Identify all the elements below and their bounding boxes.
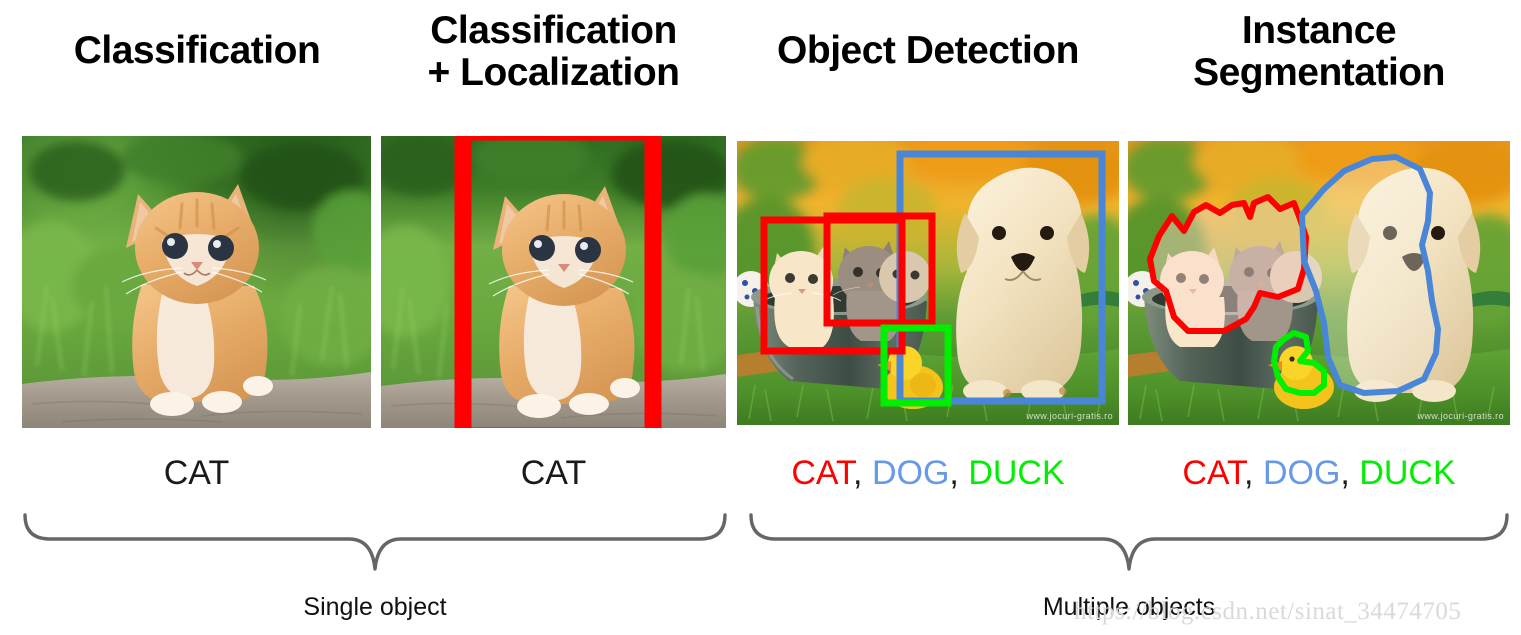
brace-multiple-objects	[748, 512, 1510, 574]
kitten-photo	[22, 136, 371, 428]
caption-classification-localization: CAT	[381, 456, 726, 490]
label-separator: ,	[1340, 454, 1359, 492]
label-cat: CAT	[791, 454, 853, 492]
label-cat: CAT	[164, 454, 229, 492]
label-duck: DUCK	[968, 454, 1064, 492]
segmentation-mask-cat	[1150, 197, 1306, 331]
label-separator: ,	[949, 454, 968, 492]
segmentation-masks	[1128, 141, 1510, 425]
column-title-object-detection: Object Detection	[737, 30, 1119, 72]
bounding-box-cat-2	[827, 216, 932, 323]
label-duck: DUCK	[1359, 454, 1455, 492]
label-dog: DOG	[1263, 454, 1340, 492]
label-cat: CAT	[1182, 454, 1244, 492]
column-title-classification-localization: Classification + Localization	[381, 10, 726, 94]
segmentation-mask-duck	[1274, 333, 1324, 393]
photo-panel-classification-localization	[381, 136, 726, 428]
segmentation-mask-dog	[1302, 157, 1438, 393]
bounding-box-duck	[884, 328, 948, 403]
label-separator: ,	[1244, 454, 1263, 492]
bounding-box-cat	[381, 136, 726, 428]
photo-panel-object-detection: www.jocuri-gratis.ro	[737, 141, 1119, 425]
figure-root: Classification Classification + Localiza…	[0, 0, 1521, 635]
label-cat: CAT	[521, 454, 586, 492]
caption-classification: CAT	[22, 456, 371, 490]
brace-single-object	[22, 512, 728, 574]
photo-panel-instance-segmentation: www.jocuri-gratis.ro	[1128, 141, 1510, 425]
label-dog: DOG	[872, 454, 949, 492]
detection-boxes	[737, 141, 1119, 425]
caption-instance-segmentation: CAT, DOG, DUCK	[1128, 456, 1510, 490]
group-label-single-object: Single object	[195, 595, 555, 620]
caption-object-detection: CAT, DOG, DUCK	[737, 456, 1119, 490]
photo-panel-classification	[22, 136, 371, 428]
column-title-classification: Classification	[22, 30, 372, 72]
group-label-multiple-objects: Multiple objects	[949, 595, 1309, 620]
label-separator: ,	[853, 454, 872, 492]
column-title-instance-segmentation: Instance Segmentation	[1128, 10, 1510, 94]
